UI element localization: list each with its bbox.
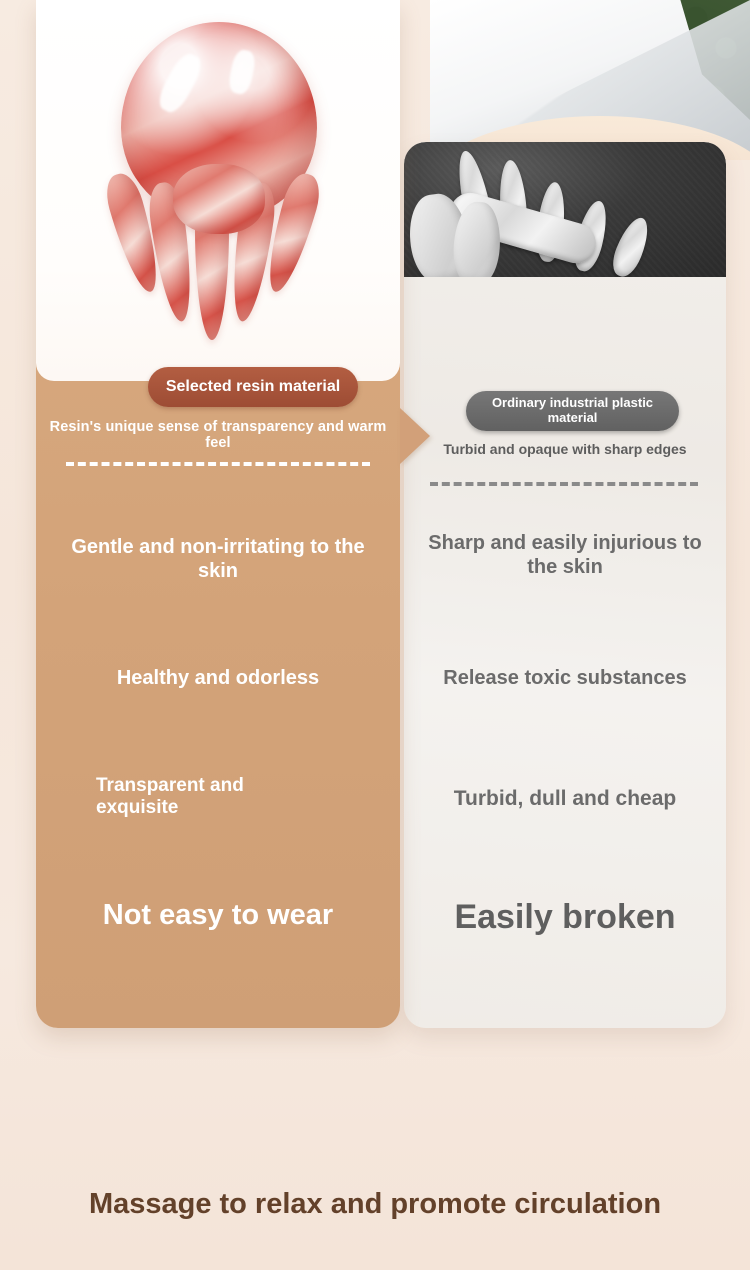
infographic-page: Ordinary industrial plastic material Tur… — [0, 0, 750, 1270]
badge-good: Selected resin material — [148, 367, 358, 407]
comparison-card-bad: Ordinary industrial plastic material Tur… — [404, 142, 726, 1028]
page-title: Massage to relax and promote circulation — [0, 1186, 750, 1224]
feature-bad-3: Easily broken — [404, 897, 726, 937]
feature-good-2: Transparent and exquisite — [36, 775, 400, 820]
feature-good-1: Healthy and odorless — [36, 667, 400, 691]
feature-bad-0: Sharp and easily injurious to the skin — [404, 532, 726, 579]
octopus-massager-icon — [109, 22, 327, 340]
caption-bad: Turbid and opaque with sharp edges — [404, 441, 726, 457]
comparison-arrow-icon — [400, 408, 430, 464]
comparison-card-good: Selected resin material Resin's unique s… — [36, 0, 400, 1028]
feature-good-0: Gentle and non-irritating to the skin — [36, 536, 400, 583]
resin-product-photo — [36, 0, 400, 381]
feature-good-3: Not easy to wear — [36, 898, 400, 932]
divider-bad — [430, 482, 698, 486]
divider-good — [66, 462, 370, 466]
caption-good: Resin's unique sense of transparency and… — [36, 419, 400, 451]
background-photo — [430, 0, 750, 160]
feature-bad-2: Turbid, dull and cheap — [404, 787, 726, 812]
badge-bad: Ordinary industrial plastic material — [466, 391, 679, 431]
feature-bad-1: Release toxic substances — [404, 667, 726, 691]
plastic-product-photo — [404, 142, 726, 277]
leg-center — [173, 164, 265, 234]
